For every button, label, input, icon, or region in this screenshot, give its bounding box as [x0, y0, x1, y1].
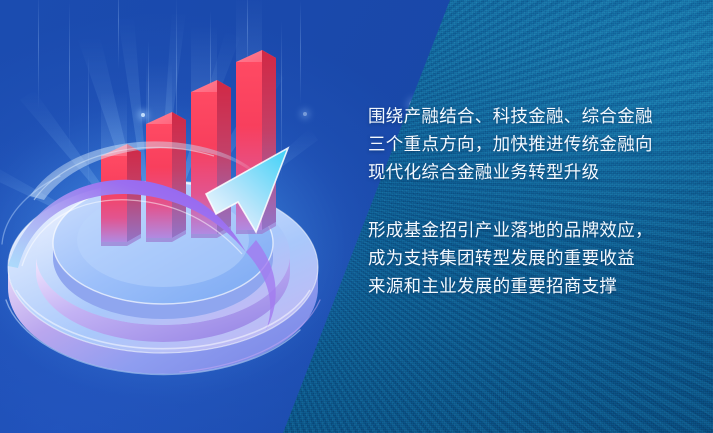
paragraph-2-line-2: 成为支持集团转型发展的重要收益	[368, 244, 690, 272]
bar-2	[146, 112, 186, 242]
paragraph-1-line-1: 围绕产融结合、科技金融、综合金融	[368, 102, 690, 130]
copy-block: 围绕产融结合、科技金融、综合金融 三个重点方向，加快推进传统金融向 现代化综合金…	[368, 102, 690, 300]
bar-1	[101, 144, 141, 246]
paragraph-2: 形成基金招引产业落地的品牌效应， 成为支持集团转型发展的重要收益 来源和主业发展…	[368, 216, 690, 300]
growth-chart-illustration	[0, 0, 360, 433]
paragraph-1-line-3: 现代化综合金融业务转型升级	[368, 158, 690, 186]
paragraph-1-line-2: 三个重点方向，加快推进传统金融向	[368, 130, 690, 158]
promo-banner: 围绕产融结合、科技金融、综合金融 三个重点方向，加快推进传统金融向 现代化综合金…	[0, 0, 713, 433]
paragraph-2-line-3: 来源和主业发展的重要招商支撑	[368, 272, 690, 300]
paragraph-1: 围绕产融结合、科技金融、综合金融 三个重点方向，加快推进传统金融向 现代化综合金…	[368, 102, 690, 186]
paragraph-2-line-1: 形成基金招引产业落地的品牌效应，	[368, 216, 690, 244]
